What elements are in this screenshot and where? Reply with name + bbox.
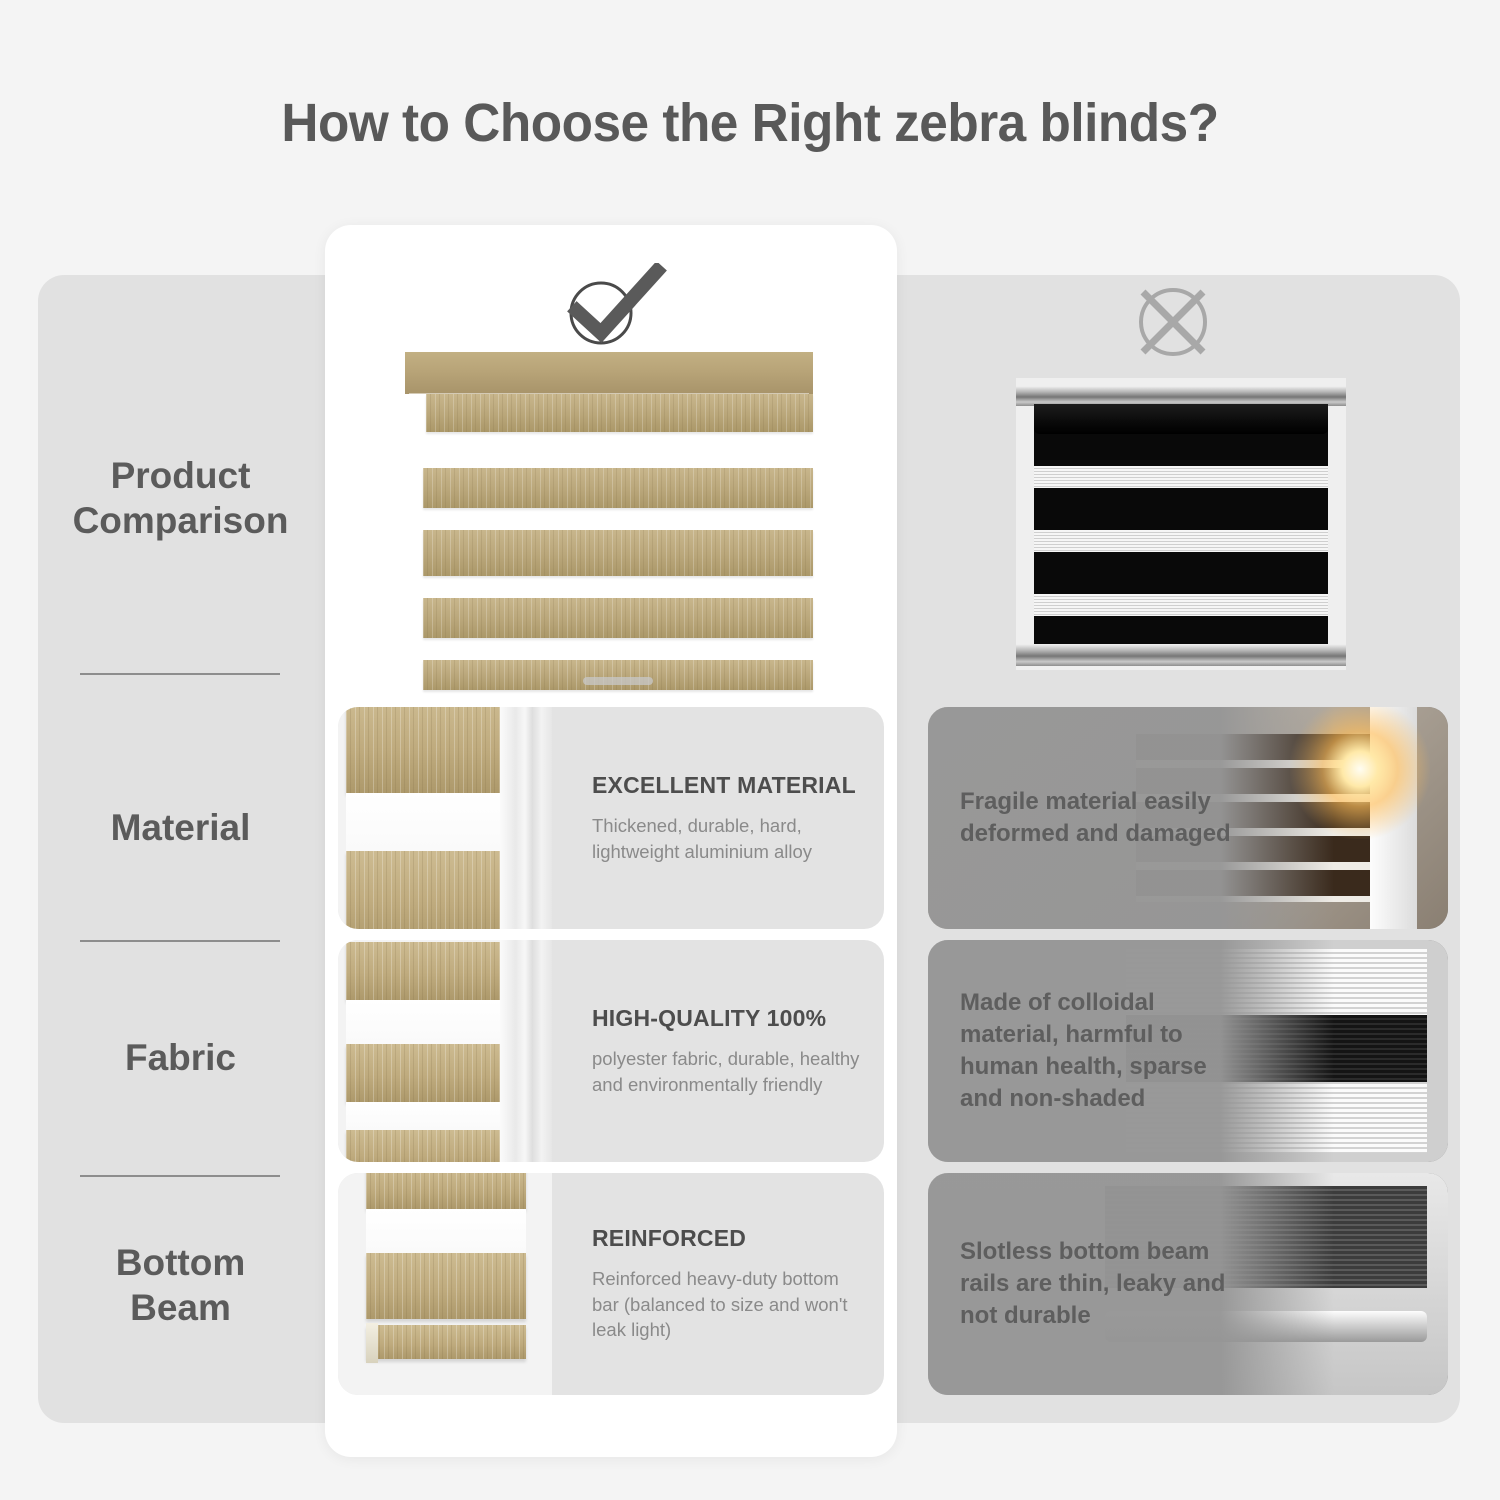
bottom-rail (423, 660, 813, 690)
bad-feature-card-fabric: Made of colloidal material, harmful to h… (928, 940, 1448, 1162)
feature-body: polyester fabric, durable, healthy and e… (592, 1046, 864, 1097)
feature-heading: REINFORCED (592, 1225, 864, 1252)
check-circle-icon (553, 263, 673, 353)
feature-card-material: EXCELLENT MATERIAL Thickened, durable, h… (338, 707, 884, 929)
feature-photo-material (338, 707, 552, 929)
row-label-bottom-beam: Bottom Beam (38, 1240, 323, 1330)
row-label-product-comparison: Product Comparison (38, 453, 323, 543)
feature-heading: EXCELLENT MATERIAL (592, 772, 864, 799)
bad-feature-text-fabric: Made of colloidal material, harmful to h… (960, 940, 1240, 1162)
feature-photo-bottom-beam (338, 1173, 552, 1395)
row-label-line2: Comparison (38, 498, 323, 543)
bad-feature-text-material: Fragile material easily deformed and dam… (960, 707, 1240, 929)
row-label-line2: Beam (38, 1285, 323, 1330)
feature-card-bottom-beam: REINFORCED Reinforced heavy-duty bottom … (338, 1173, 884, 1395)
good-product-image (405, 352, 813, 697)
feature-card-fabric: HIGH-QUALITY 100% polyester fabric, dura… (338, 940, 884, 1162)
headrail (1016, 386, 1346, 406)
bad-feature-text-bottom-beam: Slotless bottom beam rails are thin, lea… (960, 1173, 1240, 1395)
row-label-fabric: Fabric (38, 1035, 323, 1080)
feature-heading: HIGH-QUALITY 100% (592, 1005, 864, 1032)
cross-circle-icon (1117, 277, 1237, 367)
page-title: How to Choose the Right zebra blinds? (38, 92, 1463, 154)
feature-body: Reinforced heavy-duty bottom bar (balanc… (592, 1266, 864, 1343)
row-label-line1: Bottom (38, 1240, 323, 1285)
feature-text-fabric: HIGH-QUALITY 100% polyester fabric, dura… (592, 940, 864, 1162)
bad-feature-card-material: Fragile material easily deformed and dam… (928, 707, 1448, 929)
feature-body: Thickened, durable, hard, lightweight al… (592, 813, 864, 864)
blind-fabric (1034, 404, 1328, 644)
blind-band (423, 530, 813, 576)
feature-text-material: EXCELLENT MATERIAL Thickened, durable, h… (592, 707, 864, 929)
blind-band (423, 468, 813, 508)
row-label-material: Material (38, 805, 323, 850)
blind-band (423, 598, 813, 638)
row-label-column: Product Comparison Material Fabric Botto… (38, 275, 323, 1423)
blind-band (426, 394, 813, 432)
row-divider-3 (80, 1175, 280, 1177)
bottom-rail (1016, 644, 1346, 666)
bad-feature-card-bottom-beam: Slotless bottom beam rails are thin, lea… (928, 1173, 1448, 1395)
bad-product-image (1016, 378, 1346, 670)
headrail (405, 352, 813, 394)
blind-roll (1034, 404, 1328, 434)
feature-photo-fabric (338, 940, 552, 1162)
row-divider-1 (80, 673, 280, 675)
feature-text-bottom-beam: REINFORCED Reinforced heavy-duty bottom … (592, 1173, 864, 1395)
row-divider-2 (80, 940, 280, 942)
row-label-line1: Product (38, 453, 323, 498)
